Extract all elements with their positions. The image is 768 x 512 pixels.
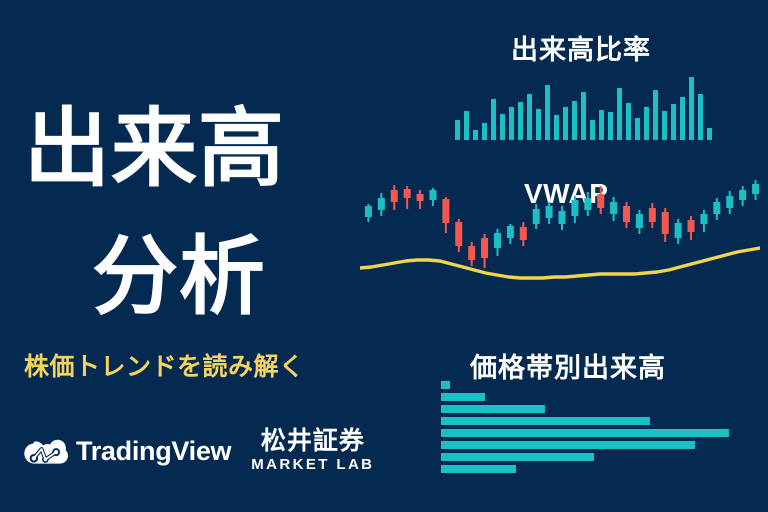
volume-bar — [500, 114, 505, 140]
matsui-jp-name: 松井証券 — [261, 428, 365, 455]
candle-body — [365, 206, 372, 217]
vwap-line — [360, 248, 760, 278]
profile-bar — [441, 441, 695, 449]
volume-bar — [545, 85, 550, 140]
candle-body — [675, 223, 682, 238]
candle-body — [636, 214, 643, 228]
candle-body — [481, 238, 488, 258]
page-title-line2: 分析 — [92, 234, 266, 320]
profile-bar — [441, 417, 650, 425]
volume-bar — [464, 111, 469, 140]
volume-bar — [698, 94, 703, 140]
volume-bar — [563, 107, 568, 140]
profile-bar — [441, 405, 545, 413]
candle-body — [688, 220, 695, 232]
candle-body — [404, 189, 411, 198]
volume-bar — [653, 90, 658, 140]
volume-ratio-label: 出来高比率 — [511, 28, 651, 67]
candle-body — [455, 222, 462, 246]
volume-profile-label: 価格帯別出来高 — [470, 346, 666, 385]
profile-bar — [441, 393, 485, 401]
volume-bar — [635, 118, 640, 140]
candle-body — [494, 233, 501, 248]
candle-body — [468, 246, 475, 260]
tradingview-logo: TradingView — [22, 433, 231, 469]
candle-body — [442, 199, 449, 223]
candle-body — [649, 208, 656, 222]
profile-bar — [441, 465, 516, 473]
tradingview-wordmark: TradingView — [76, 436, 231, 467]
candle-body — [739, 190, 746, 200]
profile-bar — [441, 381, 450, 389]
candle-body — [713, 202, 720, 214]
candle-body — [559, 211, 566, 224]
volume-bar — [527, 94, 532, 140]
volume-bar — [572, 101, 577, 140]
volume-bar — [581, 92, 586, 140]
volume-bar — [662, 111, 667, 140]
candle-body — [610, 202, 617, 214]
volume-bar — [680, 97, 685, 140]
volume-profile-chart — [441, 381, 741, 473]
volume-bar — [509, 107, 514, 140]
volume-bar — [536, 109, 541, 140]
volume-bar — [617, 88, 622, 140]
candle-body — [507, 226, 514, 238]
volume-bar — [599, 110, 604, 140]
volume-bar — [608, 112, 613, 140]
volume-bar — [491, 99, 496, 140]
candlestick-chart — [360, 176, 760, 342]
candle-body — [597, 194, 604, 208]
profile-bar — [441, 429, 729, 437]
volume-bar — [689, 77, 694, 140]
candle-body — [623, 206, 630, 222]
volume-bar — [590, 120, 595, 140]
volume-bar — [671, 104, 676, 140]
volume-bar — [644, 107, 649, 140]
candle-body — [571, 200, 578, 216]
candle-body — [417, 194, 424, 201]
candle-body — [391, 190, 398, 202]
volume-ratio-chart — [455, 70, 723, 140]
candle-body — [429, 190, 436, 200]
hero-panel: 出来高 分析 株価トレンドを読み解く — [0, 0, 400, 512]
volume-bar — [626, 103, 631, 140]
candle-body — [546, 206, 553, 218]
volume-bar — [482, 123, 487, 140]
brand-footer: TradingView 松井証券 MARKET LAB — [22, 428, 374, 474]
volume-bar — [473, 130, 478, 140]
volume-bar — [707, 128, 712, 140]
candle-body — [726, 196, 733, 208]
tagline: 株価トレンドを読み解く — [24, 352, 305, 382]
candle-body — [700, 214, 707, 224]
promo-banner: 出来高 分析 株価トレンドを読み解く — [0, 0, 768, 512]
candle-body — [533, 209, 540, 224]
candle-body — [584, 198, 591, 210]
candle-body — [752, 184, 759, 194]
volume-bar — [518, 102, 523, 140]
page-title-line1: 出来高 — [24, 106, 285, 192]
candle-body — [520, 227, 527, 240]
matsui-en-name: MARKET LAB — [251, 456, 374, 474]
profile-bar — [441, 453, 594, 461]
cloud-chart-icon — [22, 433, 68, 469]
candle-body — [662, 212, 669, 234]
candle-body — [378, 198, 385, 210]
volume-bar — [554, 115, 559, 140]
volume-bar — [455, 120, 460, 140]
matsui-securities-logo: 松井証券 MARKET LAB — [251, 428, 374, 474]
